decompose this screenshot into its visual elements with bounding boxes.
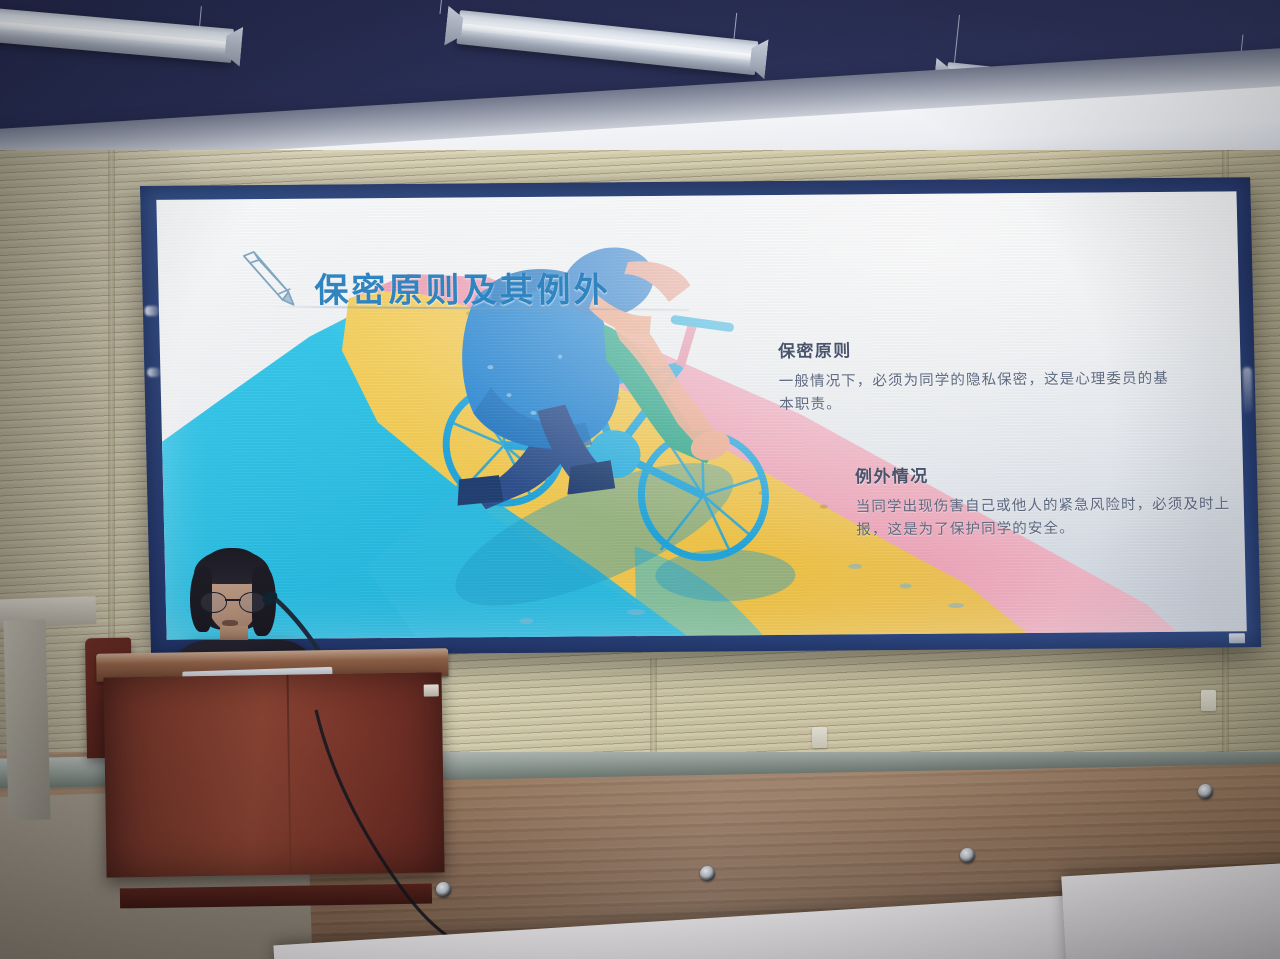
pencil-icon [238,250,301,310]
side-desk-leg [3,619,50,820]
rider-shoe-rear [457,475,504,505]
second-table-surface [1061,862,1280,959]
principle-heading: 保密原则 [778,334,1184,362]
bike-stem [679,322,694,366]
wall-outlet[interactable] [1201,690,1216,711]
table-screw [700,866,715,881]
text-block-principle: 保密原则 一般情况下，必须为同学的隐私保密，这是心理委员的基本职责。 [778,334,1185,418]
podium [96,648,452,894]
table-screw [960,848,975,863]
slide-title-row: 保密原则及其例外 [238,250,611,312]
table-screw [436,882,451,897]
exception-heading: 例外情况 [855,459,1244,487]
podium-label-plate [424,684,439,696]
table-screw [1198,784,1213,799]
glasses-icon [200,592,266,612]
bezel-glare [1243,367,1253,413]
exception-body: 当同学出现伤害自己或他人的紧急风险时，必须及时上报，这是为了保护同学的安全。 [856,493,1245,543]
wall-outlet[interactable] [812,727,827,748]
podium-front-panel [104,672,445,877]
text-block-exception: 例外情况 当同学出现伤害自己或他人的紧急风险时，必须及时上报，这是为了保护同学的… [855,459,1245,543]
principle-body: 一般情况下，必须为同学的隐私保密，这是心理委员的基本职责。 [779,368,1185,418]
presentation-slide: 保密原则及其例外 保密原则 一般情况下，必须为同学的隐私保密，这是心理委员的基本… [156,191,1246,639]
handlebar [675,319,729,327]
glasses-lens-left [200,592,227,613]
lecture-hall-photo: 保密原则及其例外 保密原则 一般情况下，必须为同学的隐私保密，这是心理委员的基本… [0,0,1280,959]
slide-title: 保密原则及其例外 [314,263,611,312]
screen-corner-badge [1229,633,1245,643]
